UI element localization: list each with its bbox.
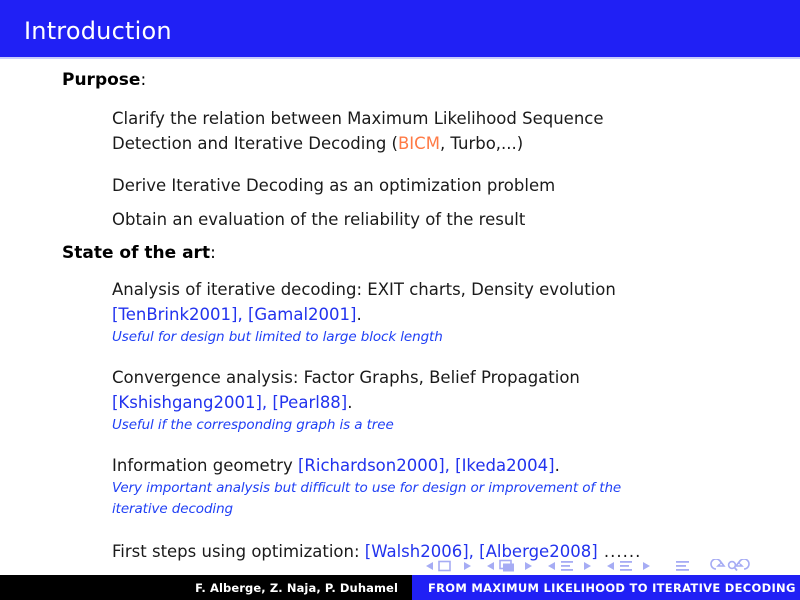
bullet-sota-1-line1: Analysis of iterative decoding: EXIT cha… [112,277,752,302]
section-heading-state-colon: : [210,243,216,263]
bullet-purpose-2: Derive Iterative Decoding as an optimiza… [112,173,752,198]
bullet-purpose-2-line1: Derive Iterative Decoding as an optimiza… [112,173,752,198]
section-heading-purpose: Purpose: [62,70,146,91]
footer-title-area: FROM MAXIMUM LIKELIHOOD TO ITERATIVE DEC… [412,575,800,600]
bullet-sota-3-lead: Information geometry [112,456,298,475]
bullet-sota-2-line1: Convergence analysis: Factor Graphs, Bel… [112,365,752,390]
bullet-sota-4-lead: First steps using optimization: [112,542,365,561]
note-sota-1: Useful for design but limited to large b… [112,327,752,348]
section-heading-state-of-the-art: State of the art: [62,243,216,264]
bullet-purpose-1-line1: Clarify the relation between Maximum Lik… [112,106,752,131]
citation-tenbrink-gamal[interactable]: [TenBrink2001], [Gamal2001] [112,305,356,324]
slide: Introduction Purpose: Clarify the relati… [0,0,800,600]
goto-icon [736,559,749,569]
prev-subsection-icon [548,562,555,570]
next-section-icon [643,562,650,570]
slide-footer: F. Alberge, Z. Naja, P. Duhamel FROM MAX… [0,575,800,600]
citation-richardson-ikeda[interactable]: [Richardson2000], [Ikeda2004] [298,456,555,475]
bullet-sota-3-citations-tail: . [555,456,560,475]
prev-section-icon [607,562,614,570]
slide-content: Purpose: Clarify the relation between Ma… [0,62,800,557]
prev-slide-icon [426,562,433,570]
bullet-purpose-1-tail: , Turbo,...) [440,134,523,153]
footer-presentation-title: FROM MAXIMUM LIKELIHOOD TO ITERATIVE DEC… [428,581,796,595]
next-frame-icon [525,562,532,570]
bullet-sota-2: Convergence analysis: Factor Graphs, Bel… [112,365,752,436]
bullet-purpose-1: Clarify the relation between Maximum Lik… [112,106,752,156]
bullet-sota-1-citations-wrap: [TenBrink2001], [Gamal2001]. [112,302,752,327]
slide-icon [439,562,450,571]
bicm-accent-text: BICM [398,134,440,153]
subsection-icon [561,561,573,571]
header-rule [0,57,800,59]
document-icon [676,561,689,571]
bullet-purpose-1-line2-wrap: Detection and Iterative Decoding (BICM, … [112,131,752,156]
bullet-sota-1: Analysis of iterative decoding: EXIT cha… [112,277,752,348]
footer-authors: F. Alberge, Z. Naja, P. Duhamel [195,581,398,595]
note-sota-2: Useful if the corresponding graph is a t… [112,415,752,436]
slide-title: Introduction [24,17,172,45]
section-heading-state-label: State of the art [62,243,210,263]
bullet-purpose-1-line2: Detection and Iterative Decoding ( [112,134,398,153]
beamer-navigation-symbols[interactable] [424,558,754,572]
bullet-sota-2-citations-wrap: [Kshishgang2001], [Pearl88]. [112,390,752,415]
section-heading-purpose-label: Purpose [62,70,140,90]
prev-frame-icon [487,562,494,570]
note-sota-3-line1: Very important analysis but difficult to… [112,478,752,499]
note-sota-3-line2: iterative decoding [112,499,752,520]
frame-icon-front [503,564,514,572]
bullet-sota-3-line1: Information geometry [Richardson2000], [… [112,453,752,478]
back-icon [711,559,724,569]
next-slide-icon [464,562,471,570]
section-heading-purpose-colon: : [140,70,146,90]
next-subsection-icon [584,562,591,570]
bullet-sota-2-citations-tail: . [347,393,352,412]
bullet-sota-3: Information geometry [Richardson2000], [… [112,453,752,520]
citation-kshishgang-pearl[interactable]: [Kshishgang2001], [Pearl88] [112,393,347,412]
footer-authors-area: F. Alberge, Z. Naja, P. Duhamel [0,575,412,600]
bullet-purpose-3: Obtain an evaluation of the reliability … [112,207,752,232]
section-icon [620,561,632,571]
bullet-sota-1-citations-tail: . [356,305,361,324]
bullet-purpose-3-line1: Obtain an evaluation of the reliability … [112,207,752,232]
